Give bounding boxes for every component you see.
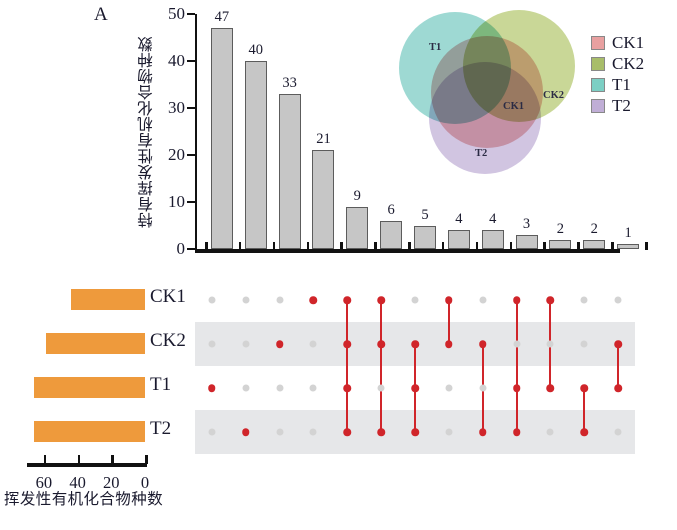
venn-legend: CK1CK2T1T2 <box>591 32 675 116</box>
set-row: T2 <box>0 410 190 454</box>
bar-rect <box>245 61 267 249</box>
matrix-dot-inactive[interactable] <box>615 429 622 436</box>
bar-chart-x-axis <box>195 249 620 253</box>
y-tick-label: 20 <box>168 145 185 165</box>
matrix-dot-active[interactable] <box>242 428 250 436</box>
matrix-dot-inactive[interactable] <box>615 297 622 304</box>
x-tick <box>239 242 242 250</box>
set-size-bar <box>34 421 145 442</box>
bar-value-label: 21 <box>316 131 331 148</box>
matrix-connector <box>617 344 619 388</box>
y-tick-label: 30 <box>168 98 185 118</box>
bar-value-label: 3 <box>523 216 530 233</box>
bar-value-label: 9 <box>354 188 361 205</box>
bar-rect <box>516 235 538 249</box>
matrix-dot-active[interactable] <box>344 296 352 304</box>
y-tick <box>187 107 195 109</box>
set-size-bar <box>34 377 145 398</box>
set-size-bar <box>46 333 145 354</box>
y-tick <box>187 13 195 15</box>
x-tick <box>510 242 513 250</box>
bar-chart-y-axis <box>195 14 197 249</box>
x-tick <box>611 242 614 250</box>
matrix-dot-active[interactable] <box>513 296 521 304</box>
matrix-dot-active[interactable] <box>411 384 419 392</box>
legend-swatch <box>591 78 605 92</box>
bar-rect <box>617 244 639 249</box>
legend-item-ck1[interactable]: CK1 <box>591 32 675 53</box>
matrix-dot-active[interactable] <box>208 384 216 392</box>
matrix-dot-inactive[interactable] <box>242 341 249 348</box>
matrix-dot-inactive[interactable] <box>513 341 520 348</box>
legend-label: T1 <box>612 75 631 95</box>
matrix-dot-inactive[interactable] <box>242 385 249 392</box>
matrix-dot-active[interactable] <box>276 340 284 348</box>
bar-value-label: 5 <box>421 207 428 224</box>
bar-column: 33 <box>273 14 307 249</box>
matrix-dot-active[interactable] <box>614 384 622 392</box>
set-size-bar-chart: CK1CK2T1T2 <box>0 272 190 472</box>
matrix-dot-active[interactable] <box>411 340 419 348</box>
matrix-dot-inactive[interactable] <box>242 297 249 304</box>
matrix-dot-active[interactable] <box>344 384 352 392</box>
bar-rect <box>549 240 571 249</box>
set-axis-tick <box>145 455 148 464</box>
matrix-dot-active[interactable] <box>513 384 521 392</box>
matrix-dot-active[interactable] <box>377 428 385 436</box>
bar-rect <box>346 207 368 249</box>
legend-swatch <box>591 57 605 71</box>
venn-label-t1: T1 <box>429 42 441 53</box>
matrix-dot-inactive[interactable] <box>581 341 588 348</box>
lower-section: CK1CK2T1T2 6040200 挥发性有机化合物种数 <box>0 272 677 530</box>
x-tick <box>205 242 208 250</box>
legend-item-ck2[interactable]: CK2 <box>591 53 675 74</box>
matrix-connector <box>380 300 382 432</box>
panel-letter: A <box>94 4 108 26</box>
bar-value-label: 33 <box>282 75 297 92</box>
bar-value-label: 40 <box>249 42 264 59</box>
bar-column: 9 <box>340 14 374 249</box>
matrix-connector <box>583 388 585 432</box>
bar-value-label: 6 <box>388 202 395 219</box>
set-size-axis: 6040200 <box>27 463 147 467</box>
matrix-dot-active[interactable] <box>513 428 521 436</box>
matrix-dot-active[interactable] <box>344 428 352 436</box>
bar-rect <box>279 94 301 249</box>
x-tick <box>408 242 411 250</box>
matrix-connector <box>516 300 518 432</box>
bar-value-label: 4 <box>455 211 462 228</box>
bar-rect <box>380 221 402 249</box>
y-tick-label: 0 <box>177 239 186 259</box>
y-tick <box>187 60 195 62</box>
set-row: CK2 <box>0 322 190 366</box>
bar-value-label: 1 <box>624 225 631 242</box>
matrix-dot-inactive[interactable] <box>208 341 215 348</box>
matrix-connector <box>448 300 450 344</box>
matrix-dot-inactive[interactable] <box>547 341 554 348</box>
x-tick <box>543 242 546 250</box>
matrix-dot-inactive[interactable] <box>378 385 385 392</box>
set-size-axis-title: 挥发性有机化合物种数 <box>4 487 184 509</box>
matrix-dot-inactive[interactable] <box>412 297 419 304</box>
bar-rect <box>583 240 605 249</box>
bar-rect <box>482 230 504 249</box>
matrix-dot-inactive[interactable] <box>445 429 452 436</box>
matrix-dot-active[interactable] <box>479 428 487 436</box>
set-label-ck1: CK1 <box>150 286 186 308</box>
set-row: T1 <box>0 366 190 410</box>
matrix-dot-active[interactable] <box>344 340 352 348</box>
bar-value-label: 2 <box>557 221 564 238</box>
set-size-bar <box>71 289 145 310</box>
matrix-dot-active[interactable] <box>377 296 385 304</box>
matrix-connector <box>346 300 348 432</box>
matrix-dot-active[interactable] <box>580 428 588 436</box>
matrix-dot-inactive[interactable] <box>310 429 317 436</box>
x-tick <box>273 242 276 250</box>
set-label-ck2: CK2 <box>150 330 186 352</box>
bar-rect <box>448 230 470 249</box>
bar-column: 47 <box>205 14 239 249</box>
y-tick <box>187 201 195 203</box>
venn-label-ck1: CK1 <box>503 101 524 112</box>
bar-column: 40 <box>239 14 273 249</box>
matrix-dot-inactive[interactable] <box>310 385 317 392</box>
matrix-dot-active[interactable] <box>377 340 385 348</box>
bar-rect <box>414 226 436 250</box>
matrix-dot-inactive[interactable] <box>276 429 283 436</box>
legend-label: CK1 <box>612 33 644 53</box>
x-tick <box>645 242 648 250</box>
matrix-dot-active[interactable] <box>310 296 318 304</box>
intersection-matrix <box>195 272 635 472</box>
matrix-dot-active[interactable] <box>479 340 487 348</box>
matrix-dot-active[interactable] <box>580 384 588 392</box>
bar-value-label: 47 <box>215 9 230 26</box>
venn-label-t2: T2 <box>475 148 487 159</box>
matrix-dot-active[interactable] <box>411 428 419 436</box>
y-tick-label: 10 <box>168 192 185 212</box>
y-tick-label: 40 <box>168 51 185 71</box>
set-row: CK1 <box>0 278 190 322</box>
x-tick <box>340 242 343 250</box>
legend-item-t1[interactable]: T1 <box>591 74 675 95</box>
matrix-dot-active[interactable] <box>547 384 555 392</box>
set-axis-tick <box>78 455 81 464</box>
y-tick-label: 50 <box>168 4 185 24</box>
bar-value-label: 2 <box>591 221 598 238</box>
legend-label: CK2 <box>612 54 644 74</box>
venn-diagram: T1CK2CK1T2 <box>393 6 583 178</box>
bar-column: 21 <box>307 14 341 249</box>
legend-label: T2 <box>612 96 631 116</box>
matrix-dot-inactive[interactable] <box>208 429 215 436</box>
x-tick <box>476 242 479 250</box>
set-axis-tick <box>44 455 47 464</box>
matrix-dot-active[interactable] <box>445 296 453 304</box>
matrix-dot-active[interactable] <box>445 340 453 348</box>
bar-rect <box>211 28 233 249</box>
x-tick <box>442 242 445 250</box>
x-tick <box>374 242 377 250</box>
matrix-dot-inactive[interactable] <box>581 297 588 304</box>
upset-plot-figure: A 特有挥发性有机化合物种数 01020304050 4740332196544… <box>0 0 677 530</box>
matrix-dot-inactive[interactable] <box>310 341 317 348</box>
set-axis-tick <box>111 455 114 464</box>
legend-swatch <box>591 36 605 50</box>
legend-swatch <box>591 99 605 113</box>
matrix-dot-inactive[interactable] <box>276 297 283 304</box>
venn-label-ck2: CK2 <box>543 90 564 101</box>
matrix-dot-inactive[interactable] <box>445 385 452 392</box>
matrix-dot-active[interactable] <box>547 296 555 304</box>
matrix-dot-inactive[interactable] <box>547 429 554 436</box>
bar-rect <box>312 150 334 249</box>
set-label-t1: T1 <box>150 374 171 396</box>
set-label-t2: T2 <box>150 418 171 440</box>
matrix-dot-inactive[interactable] <box>479 385 486 392</box>
bar-chart-y-tick-labels: 01020304050 <box>150 14 195 249</box>
matrix-dot-active[interactable] <box>614 340 622 348</box>
matrix-dot-inactive[interactable] <box>208 297 215 304</box>
matrix-dot-inactive[interactable] <box>276 385 283 392</box>
y-tick <box>187 154 195 156</box>
x-tick <box>577 242 580 250</box>
y-tick <box>187 248 195 250</box>
matrix-dot-inactive[interactable] <box>479 297 486 304</box>
bar-value-label: 4 <box>489 211 496 228</box>
legend-item-t2[interactable]: T2 <box>591 95 675 116</box>
x-tick <box>307 242 310 250</box>
